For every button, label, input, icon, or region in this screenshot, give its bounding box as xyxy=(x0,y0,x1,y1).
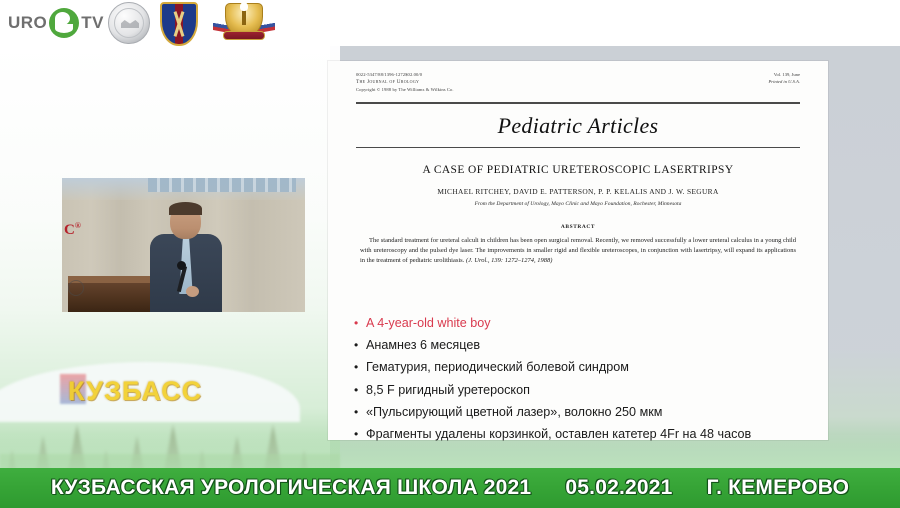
flame-icon xyxy=(240,2,248,11)
slide-bullet-list: • A 4-year-old white boy • Анамнез 6 мес… xyxy=(354,317,806,450)
speaker-video-inset[interactable]: C® xyxy=(62,178,305,312)
bullet-label: Фрагменты удалены корзинкой, оставлен ка… xyxy=(366,428,751,442)
journal-name: The Journal of Urology xyxy=(356,78,454,86)
bullet-label: «Пульсирующий цветной лазер», волокно 25… xyxy=(366,406,662,420)
silver-seal-logo xyxy=(108,2,150,44)
journal-article-scan: 0022-5347/88/1396-1272$02.00/0 The Journ… xyxy=(356,71,800,266)
list-item: • «Пульсирующий цветной лазер», волокно … xyxy=(354,406,806,420)
journal-volume: Vol. 139, June xyxy=(768,71,800,78)
urotv-leaf-icon xyxy=(49,8,79,38)
blue-red-shield-logo xyxy=(160,2,198,46)
rule-bottom xyxy=(356,147,800,149)
journal-issn-line: 0022-5347/88/1396-1272$02.00/0 xyxy=(356,71,454,78)
bullet-marker-icon: • xyxy=(354,406,366,418)
bullet-marker-icon: • xyxy=(354,317,366,329)
event-banner-city: Г. КЕМЕРОВО xyxy=(707,476,850,499)
video-watermark-c: C® xyxy=(64,221,81,239)
event-banner: КУЗБАССКАЯ УРОЛОГИЧЕСКАЯ ШКОЛА 2021 05.0… xyxy=(0,468,900,508)
list-item: • 8,5 F ригидный уретероскоп xyxy=(354,384,806,398)
crest-banner xyxy=(223,31,265,40)
journal-masthead-left: 0022-5347/88/1396-1272$02.00/0 The Journ… xyxy=(356,71,454,93)
bullet-marker-icon: • xyxy=(354,339,366,351)
logo-bar: URO TV xyxy=(0,0,900,46)
list-item: • Фрагменты удалены корзинкой, оставлен … xyxy=(354,428,806,442)
list-item: • Гематурия, периодический болевой синдр… xyxy=(354,361,806,375)
speaker-hair xyxy=(169,202,202,215)
abstract-label: ABSTRACT xyxy=(356,224,800,230)
abstract-body: The standard treatment for ureteral calc… xyxy=(356,236,800,265)
bullet-label: Анамнез 6 месяцев xyxy=(366,339,480,353)
bullet-label: A 4-year-old white boy xyxy=(366,317,491,331)
journal-masthead: 0022-5347/88/1396-1272$02.00/0 The Journ… xyxy=(356,71,800,93)
bullet-marker-icon: • xyxy=(354,384,366,396)
slide-content-panel: 0022-5347/88/1396-1272$02.00/0 The Journ… xyxy=(328,61,828,440)
journal-masthead-right: Vol. 139, June Printed in U.S.A. xyxy=(768,71,800,85)
article-authors: MICHAEL RITCHEY, DAVID E. PATTERSON, P. … xyxy=(356,187,800,196)
abstract-text: The standard treatment for ureteral calc… xyxy=(360,237,796,264)
microphone-head-icon xyxy=(177,261,186,270)
urotv-logo: URO TV xyxy=(8,8,104,38)
journal-copyright: Copyright © 1988 by The Williams & Wilki… xyxy=(356,86,454,93)
event-banner-event: КУЗБАССКАЯ УРОЛОГИЧЕСКАЯ ШКОЛА 2021 xyxy=(51,476,531,499)
bullet-marker-icon: • xyxy=(354,428,366,440)
webinar-slide-frame: КУЗБАСС URO TV xyxy=(0,0,900,508)
gold-medical-university-logo xyxy=(213,2,275,44)
bullet-label: 8,5 F ригидный уретероскоп xyxy=(366,384,530,398)
urotv-logo-prefix: URO xyxy=(8,13,47,33)
masthead-rules: Pediatric Articles xyxy=(356,102,800,148)
event-banner-date: 05.02.2021 xyxy=(565,476,672,499)
article-affiliation: From the Department of Urology, Mayo Cli… xyxy=(356,201,800,207)
speaker-hand xyxy=(186,286,199,297)
list-item: • A 4-year-old white boy xyxy=(354,317,806,331)
video-watermark-badge-icon xyxy=(68,280,84,296)
bullet-marker-icon: • xyxy=(354,361,366,373)
journal-printed-in: Printed in U.S.A. xyxy=(768,78,800,85)
urotv-logo-suffix: TV xyxy=(81,13,104,33)
event-banner-text: КУЗБАССКАЯ УРОЛОГИЧЕСКАЯ ШКОЛА 2021 05.0… xyxy=(51,476,849,500)
article-title: A CASE OF PEDIATRIC URETEROSCOPIC LASERT… xyxy=(356,164,800,176)
video-window-strip xyxy=(148,178,296,192)
journal-section-banner: Pediatric Articles xyxy=(356,104,800,147)
bullet-label: Гематурия, периодический болевой синдром xyxy=(366,361,629,375)
list-item: • Анамнез 6 месяцев xyxy=(354,339,806,353)
abstract-citation: (J. Urol., 139: 1272–1274, 1988) xyxy=(466,257,552,264)
